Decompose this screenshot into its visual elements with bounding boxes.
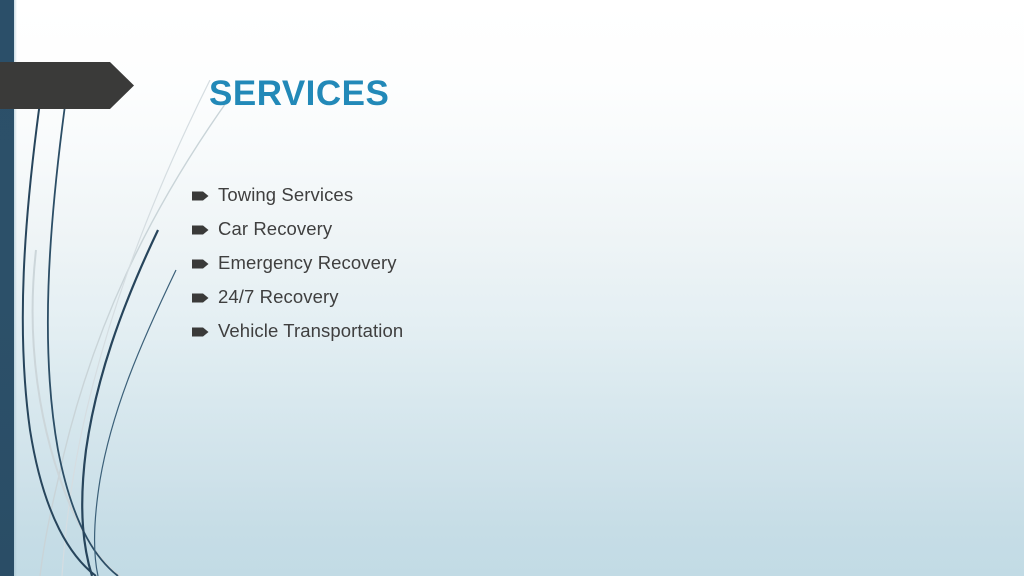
bullet-list: Towing Services Car Recovery Emergency R… bbox=[192, 178, 792, 348]
presentation-slide: SERVICES Towing Services Car Recovery bbox=[0, 0, 1024, 576]
list-item: Emergency Recovery bbox=[192, 246, 792, 280]
flag-bullet-icon bbox=[192, 291, 218, 304]
flag-bullet-icon bbox=[192, 257, 218, 270]
list-item: 24/7 Recovery bbox=[192, 280, 792, 314]
page-title: SERVICES bbox=[209, 72, 389, 116]
flag-bullet-icon bbox=[192, 223, 218, 236]
list-item-label: Emergency Recovery bbox=[218, 252, 397, 274]
list-item: Towing Services bbox=[192, 178, 792, 212]
flag-bullet-icon bbox=[192, 189, 218, 202]
flag-bullet-icon bbox=[192, 325, 218, 338]
black-arrow-banner bbox=[0, 62, 134, 109]
list-item-label: Towing Services bbox=[218, 184, 353, 206]
list-item-label: Car Recovery bbox=[218, 218, 332, 240]
list-item-label: 24/7 Recovery bbox=[218, 286, 339, 308]
list-item: Car Recovery bbox=[192, 212, 792, 246]
list-item: Vehicle Transportation bbox=[192, 314, 792, 348]
list-item-label: Vehicle Transportation bbox=[218, 320, 403, 342]
